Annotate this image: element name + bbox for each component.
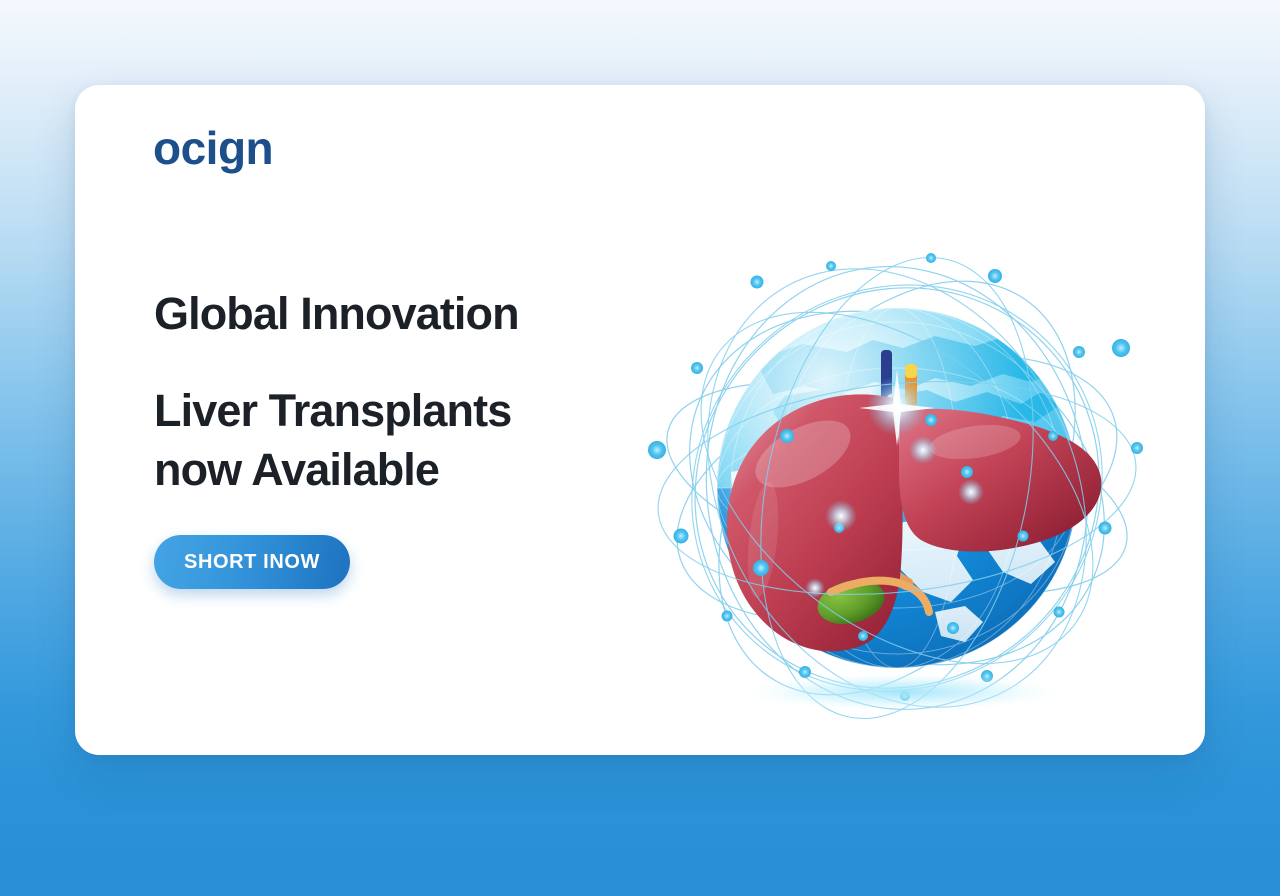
ground-glow	[733, 672, 1073, 712]
brand-logo[interactable]: ocign	[153, 125, 273, 171]
hero-illustration	[635, 240, 1155, 740]
page-title: Global Innovation	[154, 290, 714, 339]
hero-copy: Global Innovation Liver Transplants now …	[154, 290, 714, 589]
banner-stage: ocign Global Innovation Liver Transplant…	[0, 0, 1280, 896]
cta-button[interactable]: SHORT INOW	[154, 535, 350, 589]
hero-subtitle: Liver Transplants now Available	[154, 381, 584, 500]
hero-card: ocign Global Innovation Liver Transplant…	[75, 85, 1205, 755]
